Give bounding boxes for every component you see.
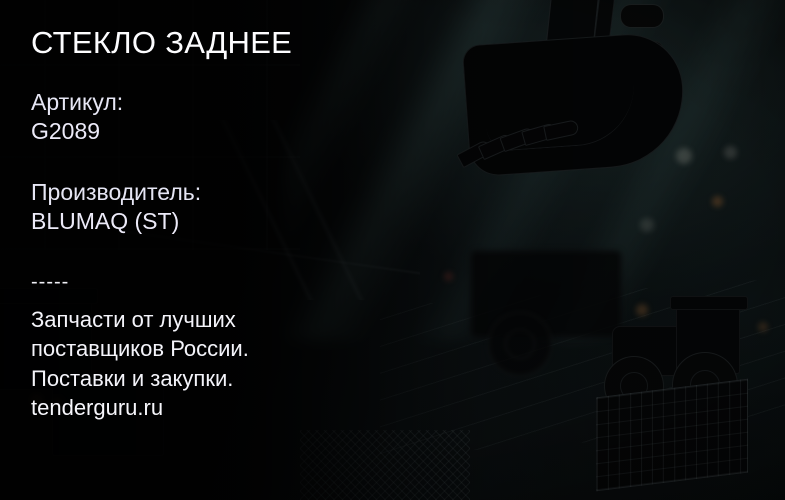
divider-dashes: ----- — [31, 272, 69, 292]
manufacturer-field: Производитель: BLUMAQ (ST) — [31, 178, 201, 237]
lamp-bokeh-warm — [712, 196, 723, 207]
lamp-bokeh — [640, 218, 654, 232]
excavator-bucket — [462, 31, 689, 178]
manufacturer-label: Производитель: — [31, 178, 201, 207]
article-value: G2089 — [31, 117, 123, 146]
tractor-front-wheel — [604, 356, 664, 416]
article-field: Артикул: G2089 — [31, 88, 123, 147]
background-machine-wheel — [488, 312, 552, 376]
product-title: СТЕКЛО ЗАДНЕЕ — [31, 26, 292, 61]
product-banner: СТЕКЛО ЗАДНЕЕ Артикул: G2089 Производите… — [0, 0, 785, 500]
tagline-block: Запчасти от лучших поставщиков России. П… — [31, 305, 249, 422]
equipment-grate — [596, 379, 748, 492]
excavator-link-arm — [585, 0, 616, 117]
lamp-bokeh-warm — [636, 304, 648, 316]
tractor-cab — [676, 304, 740, 374]
excavator-silhouette — [452, 0, 772, 266]
tagline-line-1: Запчасти от лучших — [31, 305, 249, 334]
website-url: tenderguru.ru — [31, 393, 249, 422]
article-label: Артикул: — [31, 88, 123, 117]
excavator-pivot-pin — [620, 4, 664, 28]
excavator-pivot-pin-lower — [601, 40, 665, 68]
tagline-line-3: Поставки и закупки. — [31, 364, 249, 393]
tractor-cab-roof — [670, 296, 748, 310]
banner-content: СТЕКЛО ЗАДНЕЕ Артикул: G2089 Производите… — [31, 0, 451, 500]
lamp-bokeh-warm — [758, 322, 768, 332]
tractor-rear-wheel — [672, 352, 738, 418]
bucket-tooth — [521, 122, 558, 146]
lamp-bokeh — [724, 146, 737, 159]
bucket-tooth — [499, 126, 536, 152]
manufacturer-value: BLUMAQ (ST) — [31, 207, 201, 236]
bucket-tooth — [456, 139, 493, 168]
tagline-line-2: поставщиков России. — [31, 334, 249, 363]
tractor-hood — [612, 326, 692, 376]
excavator-arm — [536, 0, 600, 138]
bucket-tooth — [543, 119, 579, 141]
bucket-tooth — [478, 133, 515, 161]
lamp-bokeh — [676, 148, 692, 164]
background-machine — [470, 250, 622, 338]
